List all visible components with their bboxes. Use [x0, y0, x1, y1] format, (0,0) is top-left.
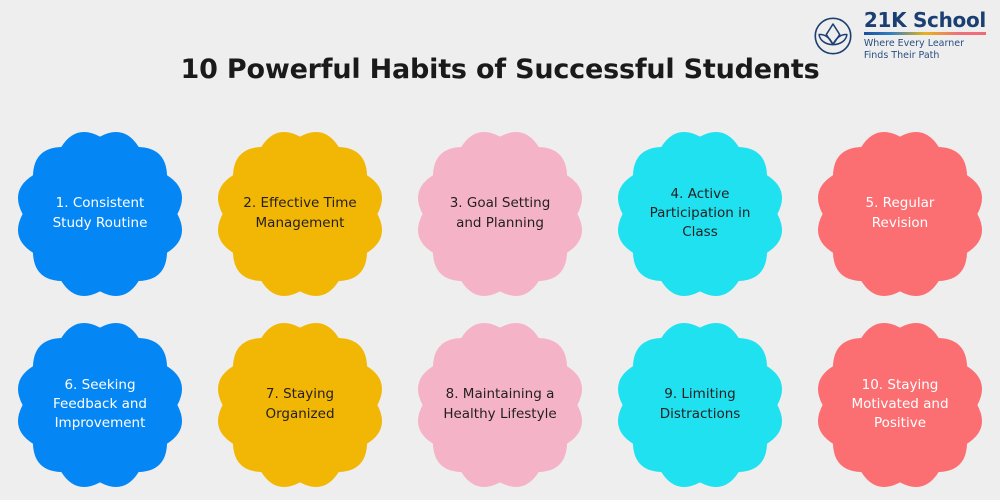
habit-badge-8[interactable]: 8. Maintaining a Healthy Lifestyle [409, 315, 591, 495]
habit-label-9: 9. Limiting Distractions [625, 385, 775, 423]
habit-label-8: 8. Maintaining a Healthy Lifestyle [425, 385, 575, 423]
habit-label-2: 2. Effective Time Management [225, 194, 375, 232]
habit-badge-5[interactable]: 5. Regular Revision [809, 124, 991, 304]
habit-badge-3[interactable]: 3. Goal Setting and Planning [409, 124, 591, 304]
habits-grid: 1. Consistent Study Routine 2. Effective… [0, 118, 1000, 500]
habit-badge-7[interactable]: 7. Staying Organized [209, 315, 391, 495]
habit-badge-9[interactable]: 9. Limiting Distractions [609, 315, 791, 495]
habit-badge-1[interactable]: 1. Consistent Study Routine [9, 124, 191, 304]
habit-label-7: 7. Staying Organized [225, 385, 375, 423]
habit-label-3: 3. Goal Setting and Planning [425, 194, 575, 232]
lotus-circle-icon [810, 13, 856, 59]
habit-label-4: 4. Active Participation in Class [625, 185, 775, 242]
habit-label-5: 5. Regular Revision [825, 194, 975, 232]
habit-label-10: 10. Staying Motivated and Positive [825, 376, 975, 433]
habit-badge-10[interactable]: 10. Staying Motivated and Positive [809, 315, 991, 495]
habit-label-1: 1. Consistent Study Routine [25, 194, 175, 232]
brand-gradient-rule [864, 32, 986, 35]
habit-badge-2[interactable]: 2. Effective Time Management [209, 124, 391, 304]
habit-badge-4[interactable]: 4. Active Participation in Class [609, 124, 791, 304]
habit-badge-6[interactable]: 6. Seeking Feedback and Improvement [9, 315, 191, 495]
brand-name: 21K School [864, 10, 986, 30]
habit-label-6: 6. Seeking Feedback and Improvement [25, 376, 175, 433]
page-title: 10 Powerful Habits of Successful Student… [0, 54, 1000, 85]
